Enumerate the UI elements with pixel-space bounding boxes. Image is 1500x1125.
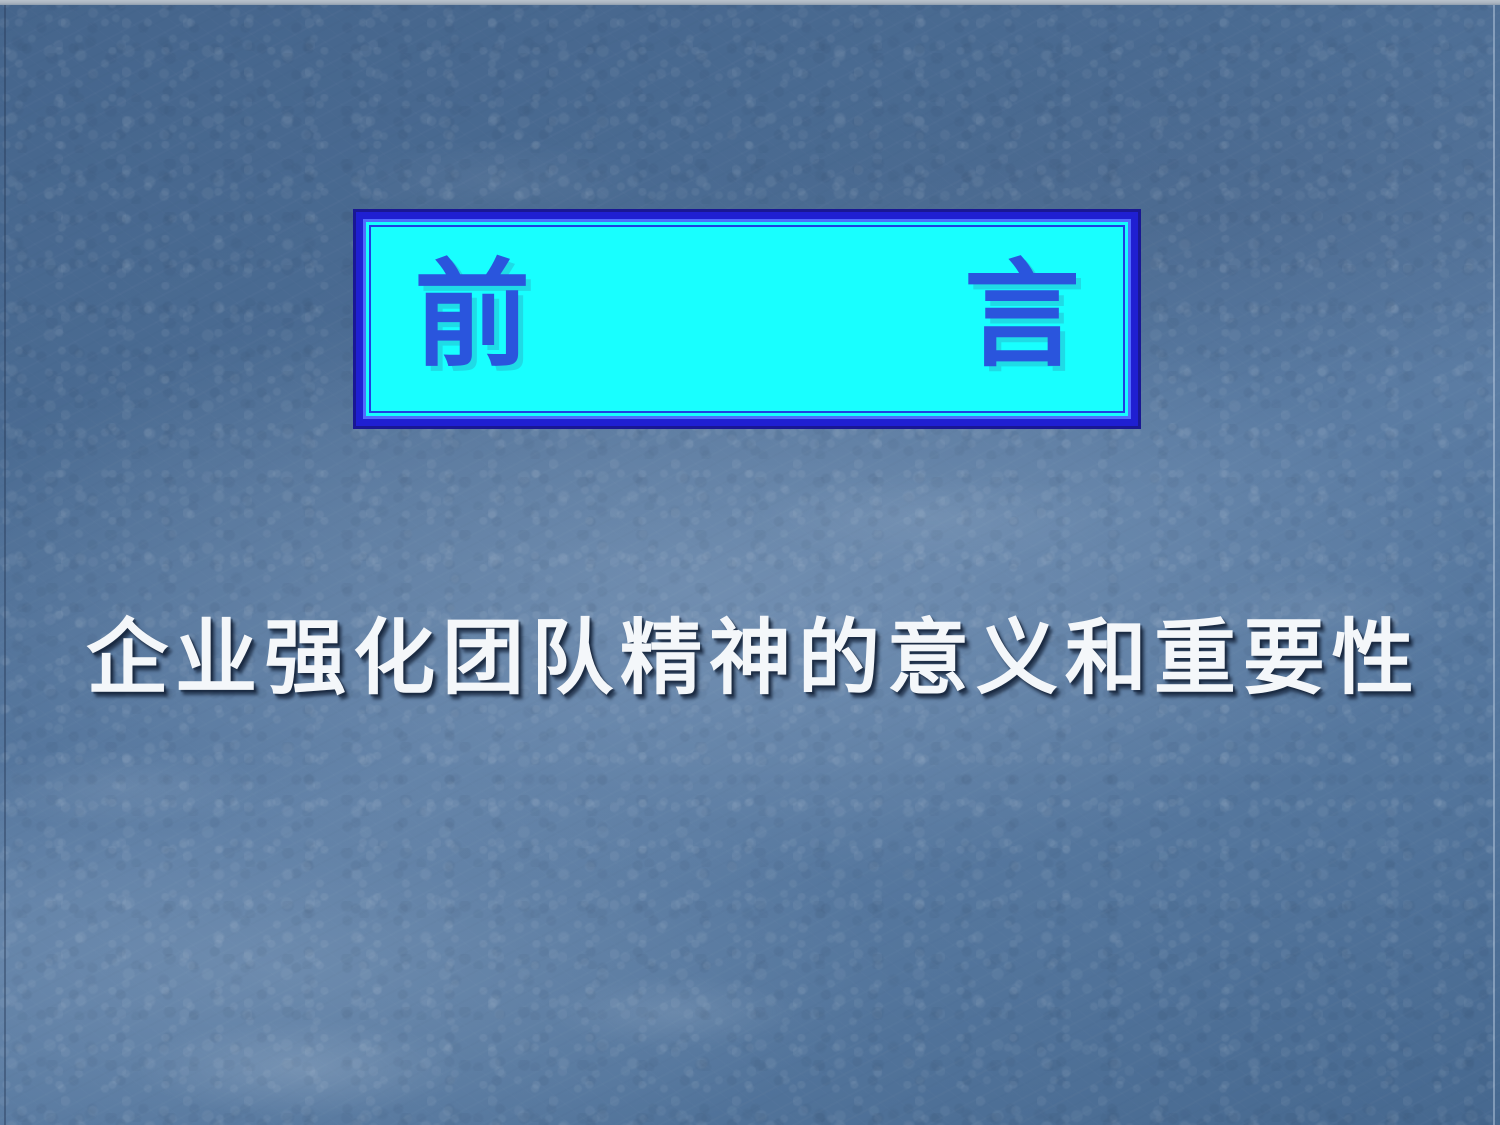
slide-title: 前 言 xyxy=(347,258,1147,374)
background-texture-streaks xyxy=(0,0,1500,1125)
slide-subtitle: 企业强化团队精神的意义和重要性 xyxy=(0,612,1500,706)
presentation-slide: 前 言 企业强化团队精神的意义和重要性 xyxy=(0,0,1500,1125)
slide-right-edge-line xyxy=(1493,5,1495,1125)
background-texture-highlights xyxy=(0,0,1500,1125)
background-texture-speckle xyxy=(0,0,1500,1125)
title-plaque: 前 言 xyxy=(356,212,1138,426)
slide-top-edge-line xyxy=(0,0,1500,5)
slide-left-edge-line xyxy=(4,5,6,1125)
